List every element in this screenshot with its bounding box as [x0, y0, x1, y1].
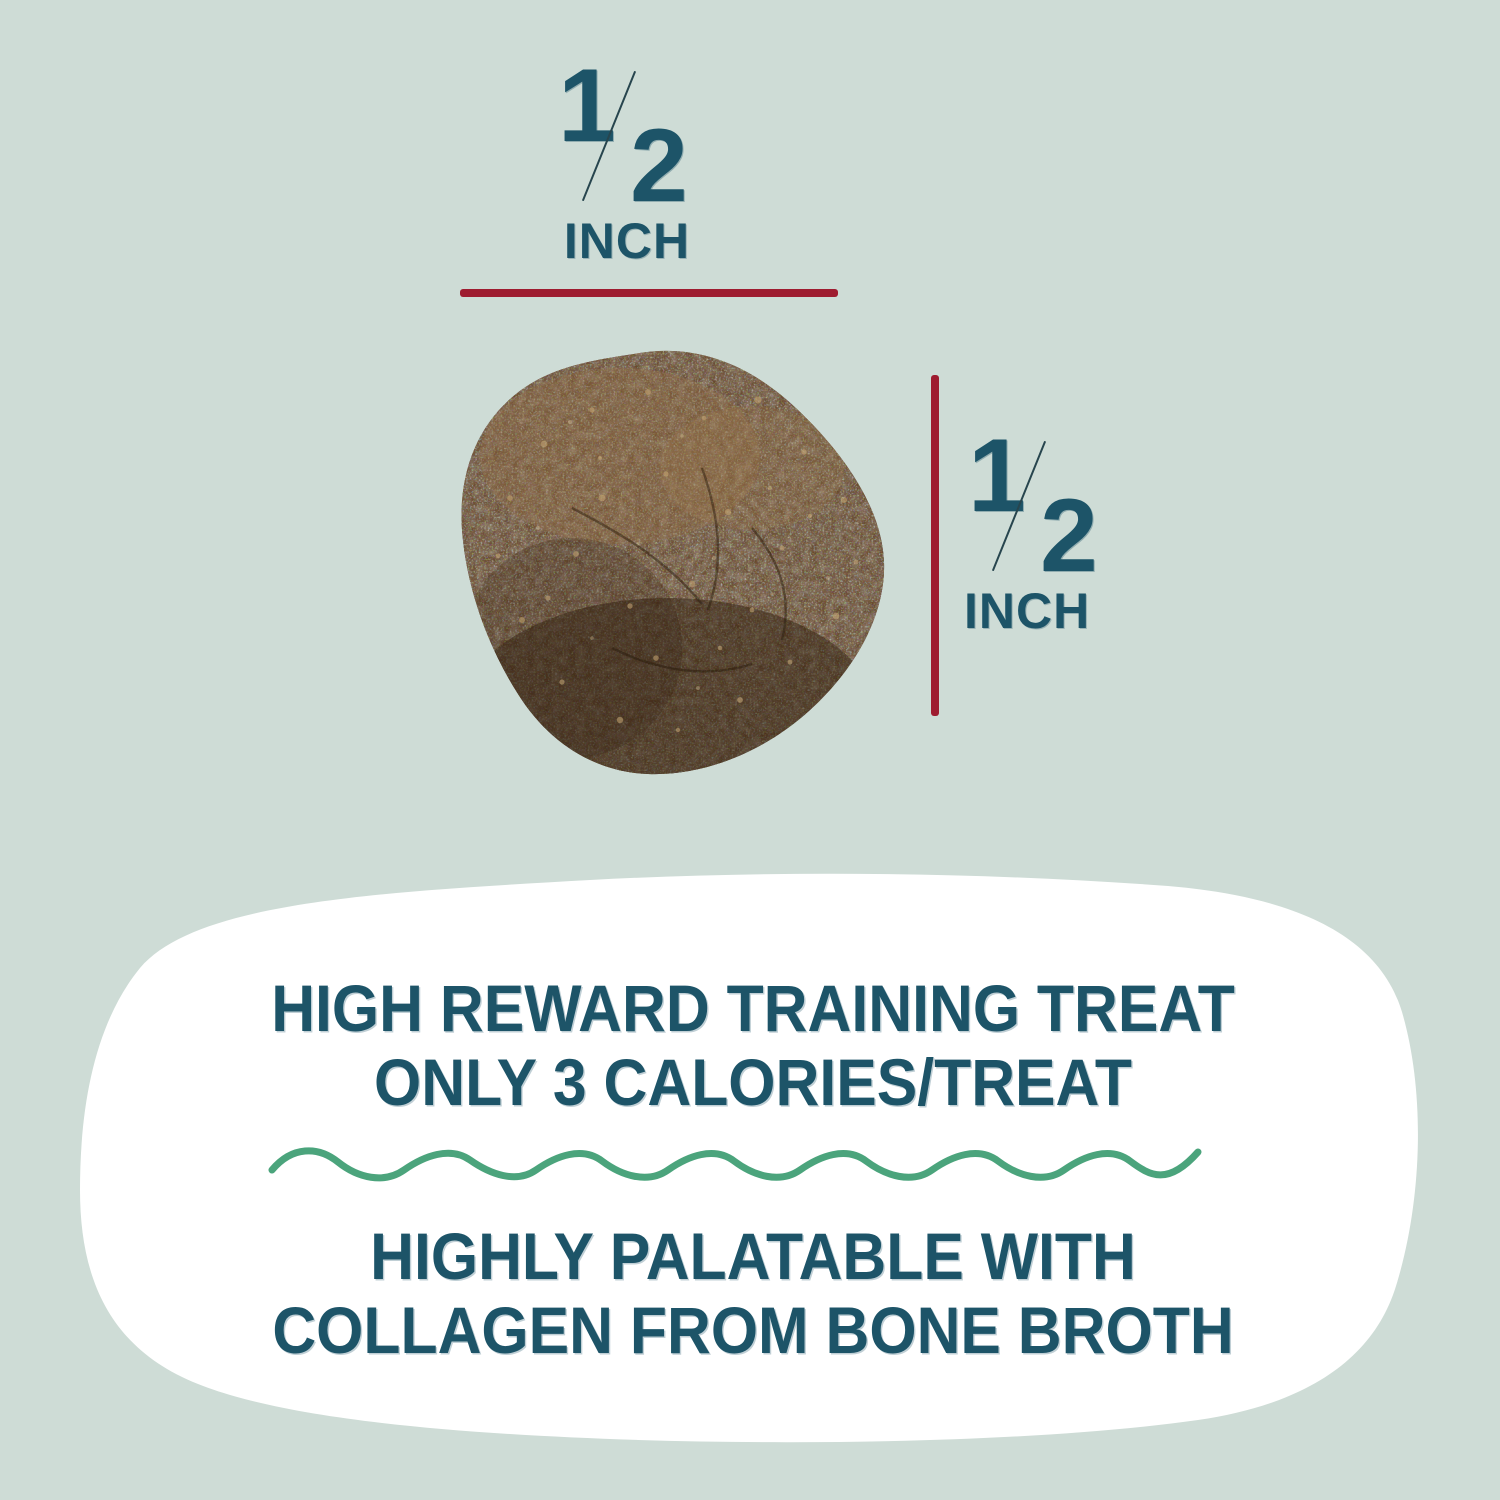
unit-label: INCH: [964, 582, 1114, 640]
wavy-divider: [268, 1140, 1208, 1186]
claim-line-3: HIGHLY PALATABLE WITH: [132, 1222, 1374, 1292]
claims-card: HIGH REWARD TRAINING TREAT ONLY 3 CALORI…: [78, 872, 1428, 1444]
height-ruler-line: [931, 375, 939, 716]
fraction-denominator: 2: [1040, 484, 1096, 588]
claim-line-1: HIGH REWARD TRAINING TREAT: [132, 974, 1374, 1044]
height-measurement-label: 1 2 INCH: [962, 430, 1112, 580]
claim-line-2: ONLY 3 CALORIES/TREAT: [132, 1048, 1374, 1118]
fraction-one-half: 1 2 INCH: [962, 430, 1112, 580]
width-measurement-label: 1 2 INCH: [552, 60, 702, 210]
treat-product-image: [452, 348, 890, 780]
fraction-one-half: 1 2 INCH: [552, 60, 702, 210]
width-ruler-line: [460, 289, 838, 297]
claim-line-4: COLLAGEN FROM BONE BROTH: [132, 1296, 1374, 1366]
fraction-denominator: 2: [630, 114, 686, 218]
product-infographic: 1 2 INCH 1 2 INCH: [0, 0, 1500, 1500]
unit-label: INCH: [552, 212, 702, 270]
